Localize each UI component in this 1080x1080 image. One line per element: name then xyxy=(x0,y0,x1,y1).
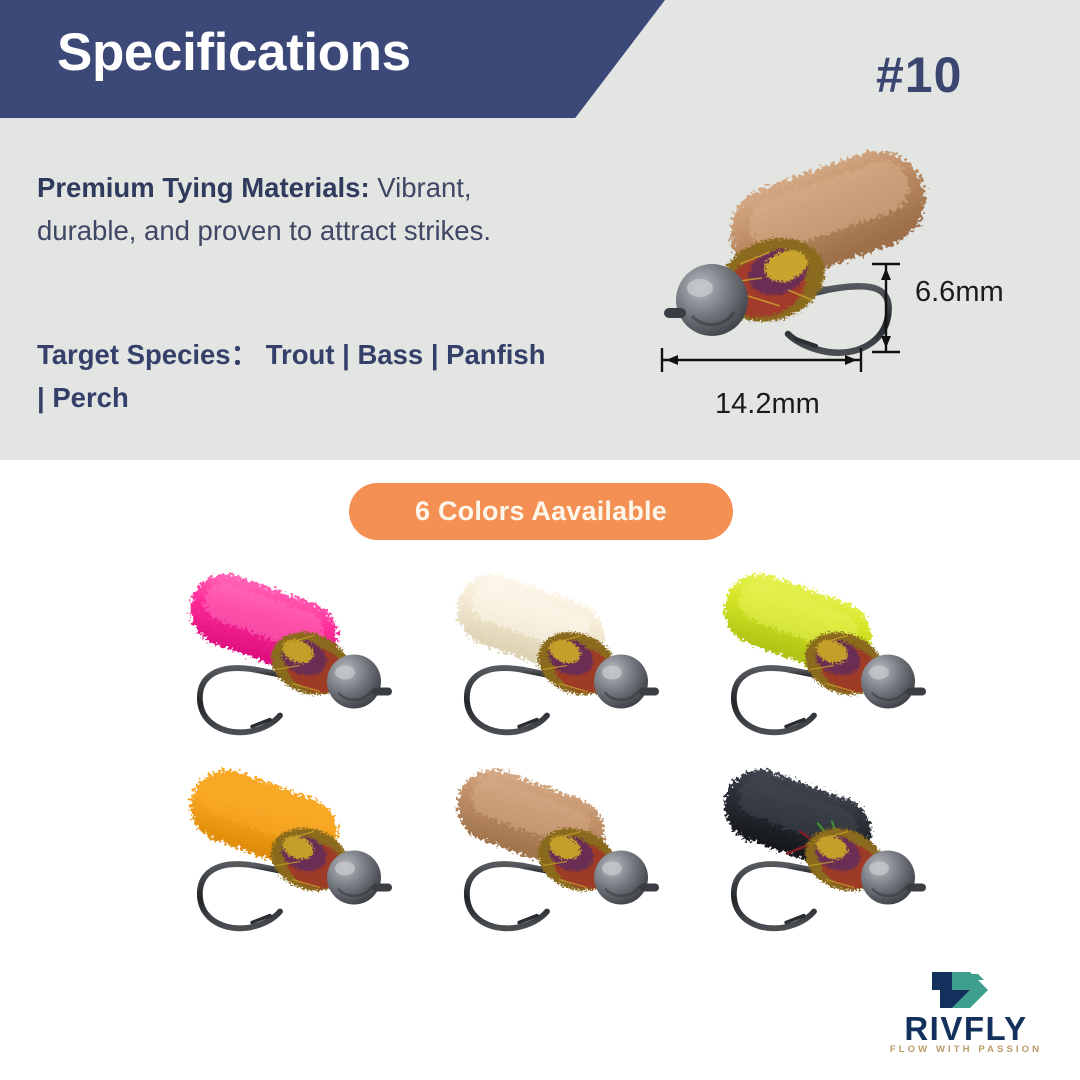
materials-paragraph: Premium Tying Materials: Vibrant, durabl… xyxy=(37,166,557,252)
height-dimension-label: 6.6mm xyxy=(915,276,1004,309)
materials-label: Premium Tying Materials: xyxy=(37,172,370,203)
target-species-line: Target Species： Trout | Bass | Panfish |… xyxy=(37,333,557,419)
color-variant-orange[interactable] xyxy=(150,756,417,952)
fly-illustration-hot-pink xyxy=(158,566,408,751)
fly-illustration-orange xyxy=(158,762,408,947)
hero-fly-figure: 6.6mm 14.2mm xyxy=(620,140,1060,440)
brand-tagline: FLOW WITH PASSION xyxy=(866,1044,1066,1055)
fly-illustration-brown xyxy=(425,762,675,947)
brand-logo: RIVFLY FLOW WITH PASSION xyxy=(866,968,1066,1054)
color-variant-chartreuse[interactable] xyxy=(683,560,950,756)
brand-name: RIVFLY xyxy=(866,1010,1066,1048)
colors-available-badge: 6 Colors Aavailable xyxy=(349,483,733,540)
hook-size-label: #10 xyxy=(876,46,962,104)
page-title: Specifications xyxy=(57,22,411,83)
color-variant-grid xyxy=(150,560,950,952)
fly-illustration-cream xyxy=(425,566,675,751)
product-spec-card: Specifications #10 Premium Tying Materia… xyxy=(0,0,1080,1080)
colors-available-label: 6 Colors Aavailable xyxy=(415,496,667,527)
width-dimension-label: 14.2mm xyxy=(715,388,820,421)
fly-illustration-chartreuse xyxy=(692,566,942,751)
color-variant-brown[interactable] xyxy=(417,756,684,952)
rivfly-mark-icon xyxy=(866,968,1066,1012)
color-variant-hot-pink[interactable] xyxy=(150,560,417,756)
fly-illustration-black xyxy=(692,762,942,947)
color-variant-black[interactable] xyxy=(683,756,950,952)
color-variant-cream[interactable] xyxy=(417,560,684,756)
